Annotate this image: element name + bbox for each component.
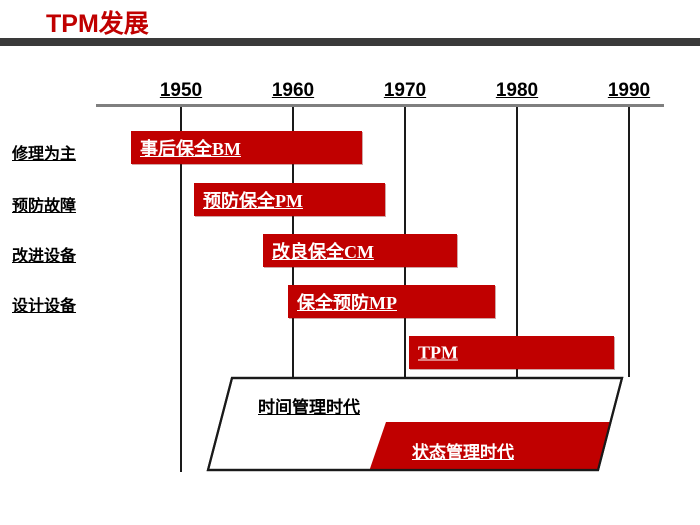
timeline-bar-3: 保全预防MP bbox=[288, 285, 495, 318]
timeline-year-1960: 1960 bbox=[272, 80, 314, 102]
timeline-year-1950: 1950 bbox=[160, 80, 202, 102]
row-label-3: 设计设备 bbox=[12, 292, 76, 316]
timeline-bar-label-0: 事后保全BM bbox=[140, 135, 241, 161]
gridline-1990 bbox=[628, 107, 630, 377]
timeline-bar-0: 事后保全BM bbox=[131, 131, 362, 164]
row-label-0: 修理为主 bbox=[12, 140, 76, 164]
row-label-2: 改进设备 bbox=[12, 242, 76, 266]
timeline-year-1970: 1970 bbox=[384, 80, 426, 102]
gridline-1980 bbox=[516, 107, 518, 417]
era-label-time-management: 时间管理时代 bbox=[258, 393, 360, 418]
timeline-bar-1: 预防保全PM bbox=[194, 183, 385, 216]
timeline-bar-4: TPM bbox=[409, 336, 614, 369]
era-label-state-management: 状态管理时代 bbox=[412, 438, 514, 463]
timeline-bar-label-4: TPM bbox=[418, 342, 458, 363]
row-label-1: 预防故障 bbox=[12, 192, 76, 216]
timeline-bar-2: 改良保全CM bbox=[263, 234, 457, 267]
timeline-bar-label-1: 预防保全PM bbox=[203, 187, 303, 213]
timeline-bar-label-3: 保全预防MP bbox=[297, 289, 397, 315]
timeline-bar-label-2: 改良保全CM bbox=[272, 238, 374, 264]
timeline-year-1980: 1980 bbox=[496, 80, 538, 102]
page-title: TPM发展 bbox=[46, 4, 149, 40]
timeline-year-1990: 1990 bbox=[608, 80, 650, 102]
title-divider bbox=[0, 38, 700, 46]
